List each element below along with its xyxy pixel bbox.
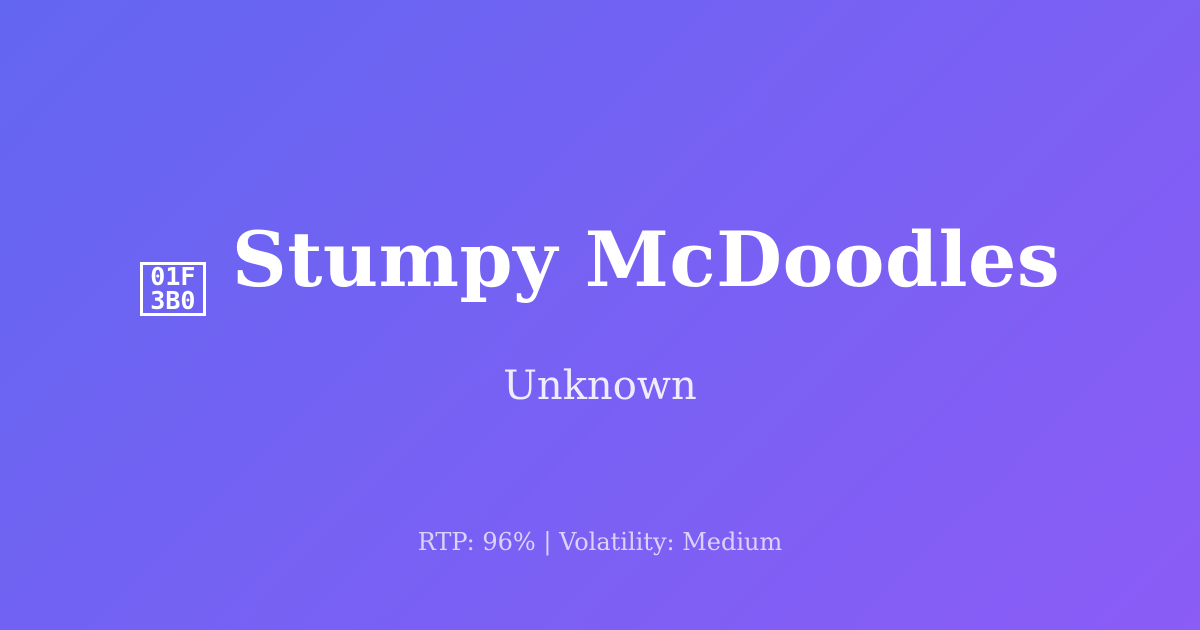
- game-preview-card: 01F 3B0 Stumpy McDoodles Unknown RTP: 96…: [0, 0, 1200, 630]
- provider-subtitle: Unknown: [0, 362, 1200, 410]
- slot-machine-icon: 01F 3B0: [140, 262, 206, 316]
- game-stats-line: RTP: 96% | Volatility: Medium: [0, 527, 1200, 557]
- title-row: 01F 3B0 Stumpy McDoodles: [0, 218, 1200, 317]
- page-title: Stumpy McDoodles: [232, 218, 1060, 302]
- codepoint-line-2: 3B0: [150, 289, 195, 313]
